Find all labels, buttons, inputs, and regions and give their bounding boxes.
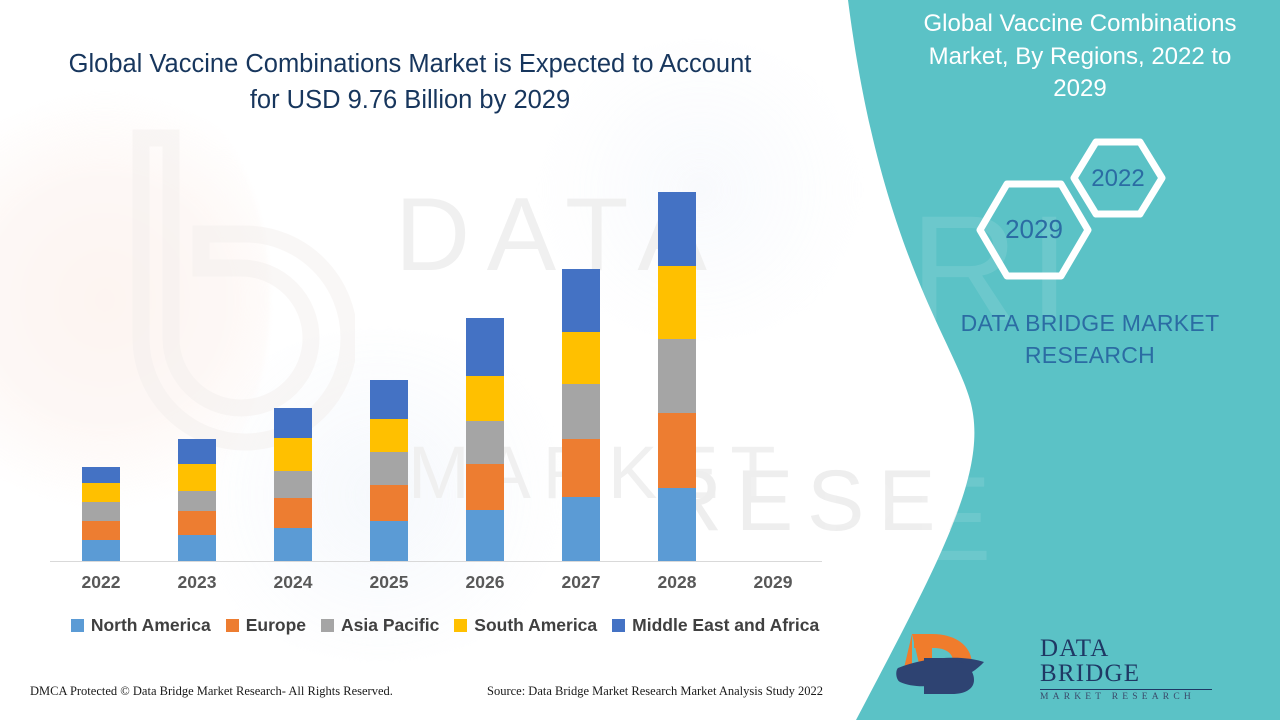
bar-segment (466, 464, 504, 510)
chart-axis-line (50, 561, 822, 563)
bar-segment (82, 521, 120, 540)
x-axis-tick-2022: 2022 (53, 572, 149, 593)
chart-x-axis-labels: 20222023202420252026202720282029 (50, 572, 822, 602)
legend-item[interactable]: North America (71, 615, 211, 636)
logo-name: DATA BRIDGE (1040, 636, 1212, 686)
bar-segment (466, 376, 504, 421)
x-axis-tick-2028: 2028 (629, 572, 725, 593)
bar-2024 (274, 408, 312, 561)
page-title: Global Vaccine Combinations Market is Ex… (60, 46, 760, 118)
x-axis-tick-2023: 2023 (149, 572, 245, 593)
bar-segment (562, 332, 600, 384)
x-axis-tick-2025: 2025 (341, 572, 437, 593)
bar-segment (370, 380, 408, 419)
bar-segment (658, 488, 696, 561)
legend-label: Europe (246, 615, 306, 636)
bar-segment (370, 521, 408, 561)
bar-segment (178, 511, 216, 535)
x-axis-tick-2027: 2027 (533, 572, 629, 593)
bar-2022 (82, 467, 120, 561)
bar-segment (370, 485, 408, 521)
bar-segment (274, 528, 312, 561)
bar-segment (562, 269, 600, 332)
hexagon-2029-label: 2029 (1005, 214, 1063, 244)
bar-segment (274, 471, 312, 498)
bar-segment (370, 419, 408, 452)
bar-2027 (562, 269, 600, 561)
data-bridge-logo: DATA BRIDGE MARKET RESEARCH (890, 628, 1120, 698)
bar-2026 (466, 318, 504, 561)
legend-swatch-icon (226, 619, 239, 632)
bar-segment (562, 439, 600, 497)
bar-segment (562, 384, 600, 439)
legend-swatch-icon (612, 619, 625, 632)
bar-segment (466, 318, 504, 376)
legend-label: Middle East and Africa (632, 615, 819, 636)
bar-segment (82, 467, 120, 483)
bar-segment (658, 266, 696, 339)
legend-item[interactable]: Asia Pacific (321, 615, 439, 636)
bar-segment (178, 439, 216, 464)
bar-segment (658, 339, 696, 413)
bar-segment (658, 192, 696, 266)
bar-segment (274, 498, 312, 528)
legend-swatch-icon (321, 619, 334, 632)
bar-segment (82, 483, 120, 502)
panel-title: Global Vaccine Combinations Market, By R… (900, 8, 1260, 106)
bar-segment (178, 464, 216, 491)
chart-legend: North AmericaEuropeAsia PacificSouth Ame… (50, 615, 840, 636)
bar-segment (82, 502, 120, 521)
logo-divider (1040, 689, 1212, 690)
bar-2025 (370, 380, 408, 561)
stacked-bar-chart (50, 150, 822, 562)
legend-item[interactable]: Middle East and Africa (612, 615, 819, 636)
footer: DMCA Protected © Data Bridge Market Rese… (0, 684, 840, 710)
legend-label: North America (91, 615, 211, 636)
bar-segment (178, 535, 216, 561)
legend-swatch-icon (454, 619, 467, 632)
panel-brand-text: DATA BRIDGE MARKET RESEARCH (930, 308, 1250, 371)
legend-swatch-icon (71, 619, 84, 632)
right-panel: BRI RE Global Vaccine Combinations Marke… (820, 0, 1280, 720)
logo-mark-icon (890, 628, 1020, 698)
legend-label: Asia Pacific (341, 615, 439, 636)
hexagon-2022-label: 2022 (1091, 165, 1144, 192)
bar-segment (274, 408, 312, 438)
bar-2023 (178, 439, 216, 561)
logo-wordmark: DATA BRIDGE MARKET RESEARCH (1040, 636, 1212, 703)
x-axis-tick-2024: 2024 (245, 572, 341, 593)
infographic-root: DATA MARKET RESEARCH Global Vaccine Comb… (0, 0, 1280, 720)
bar-segment (178, 491, 216, 511)
bar-segment (466, 421, 504, 464)
x-axis-tick-2029: 2029 (725, 572, 821, 593)
bar-segment (370, 452, 408, 485)
footer-copyright: DMCA Protected © Data Bridge Market Rese… (30, 684, 393, 699)
legend-item[interactable]: South America (454, 615, 597, 636)
logo-subtitle: MARKET RESEARCH (1040, 693, 1212, 703)
bar-segment (274, 438, 312, 471)
bar-segment (658, 413, 696, 488)
hexagon-group: 2029 2022 (970, 130, 1220, 290)
bar-segment (466, 510, 504, 561)
legend-item[interactable]: Europe (226, 615, 306, 636)
x-axis-tick-2026: 2026 (437, 572, 533, 593)
bar-2028 (658, 192, 696, 561)
bar-segment (562, 497, 600, 561)
bar-segment (82, 540, 120, 561)
legend-label: South America (474, 615, 597, 636)
footer-source: Source: Data Bridge Market Research Mark… (487, 684, 823, 699)
chart-plot-area (50, 150, 822, 562)
